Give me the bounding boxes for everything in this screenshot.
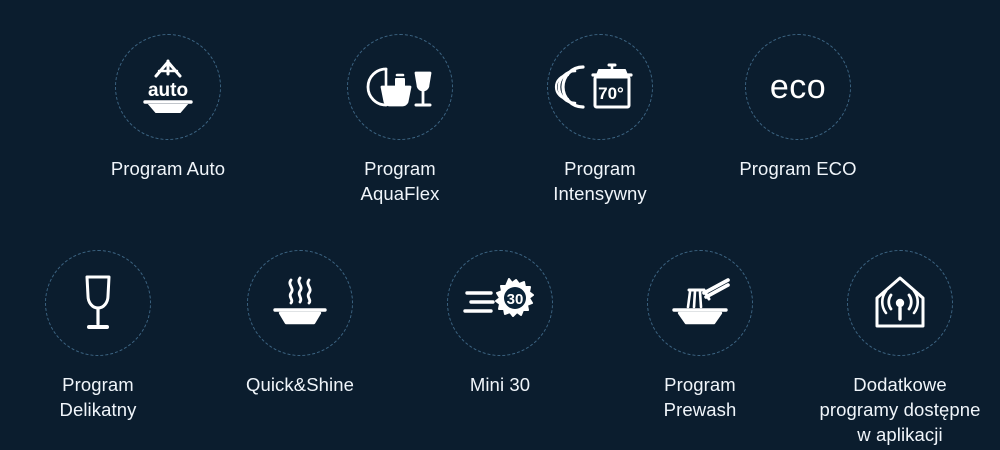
program-label: Dodatkowe programy dostępne w aplikacji	[819, 372, 980, 447]
svg-text:70°: 70°	[598, 84, 624, 103]
hot-pot-icon: 70°	[564, 56, 636, 118]
icon-circle-aquaflex	[347, 34, 453, 140]
icon-circle-quickshine	[247, 250, 353, 356]
program-label: Mini 30	[470, 372, 530, 397]
eco-text-icon: eco	[762, 56, 834, 118]
fast-timer-icon: 30	[464, 272, 536, 334]
program-label: Program AquaFlex	[361, 156, 440, 206]
brush-plate-icon	[664, 272, 736, 334]
svg-text:auto: auto	[148, 80, 188, 101]
icon-circle-mini30: 30	[447, 250, 553, 356]
program-grid-panel: auto Program Auto	[0, 0, 1000, 450]
program-tile-aquaflex[interactable]: Program AquaFlex	[300, 34, 500, 206]
program-tile-quickshine[interactable]: Quick&Shine	[200, 250, 400, 397]
program-tile-delikatny[interactable]: Program Delikatny	[0, 250, 198, 422]
program-label: Program Delikatny	[60, 372, 137, 422]
icon-circle-eco: eco	[745, 34, 851, 140]
svg-text:30: 30	[507, 291, 524, 308]
plate-bowl-glass-icon	[364, 56, 436, 118]
steaming-plate-icon	[264, 272, 336, 334]
program-label: Program Intensywny	[553, 156, 647, 206]
program-tile-intensywny[interactable]: 70° Program Intensywny	[500, 34, 700, 206]
wine-glass-icon	[62, 272, 134, 334]
program-tile-prewash[interactable]: Program Prewash	[600, 250, 800, 422]
program-tile-mini30[interactable]: 30 Mini 30	[400, 250, 600, 397]
program-label: Program Prewash	[664, 372, 737, 422]
icon-circle-intensywny: 70°	[547, 34, 653, 140]
auto-dish-icon: auto	[132, 56, 204, 118]
program-tile-eco[interactable]: eco Program ECO	[698, 34, 898, 181]
icon-circle-auto: auto	[115, 34, 221, 140]
program-label: Program Auto	[111, 156, 225, 181]
icon-circle-app	[847, 250, 953, 356]
program-tile-auto[interactable]: auto Program Auto	[68, 34, 268, 181]
icon-circle-delikatny	[45, 250, 151, 356]
program-label: Quick&Shine	[246, 372, 354, 397]
program-label: Program ECO	[739, 156, 856, 181]
icon-circle-prewash	[647, 250, 753, 356]
program-tile-app[interactable]: Dodatkowe programy dostępne w aplikacji	[800, 250, 1000, 447]
smart-home-wifi-icon	[864, 272, 936, 334]
